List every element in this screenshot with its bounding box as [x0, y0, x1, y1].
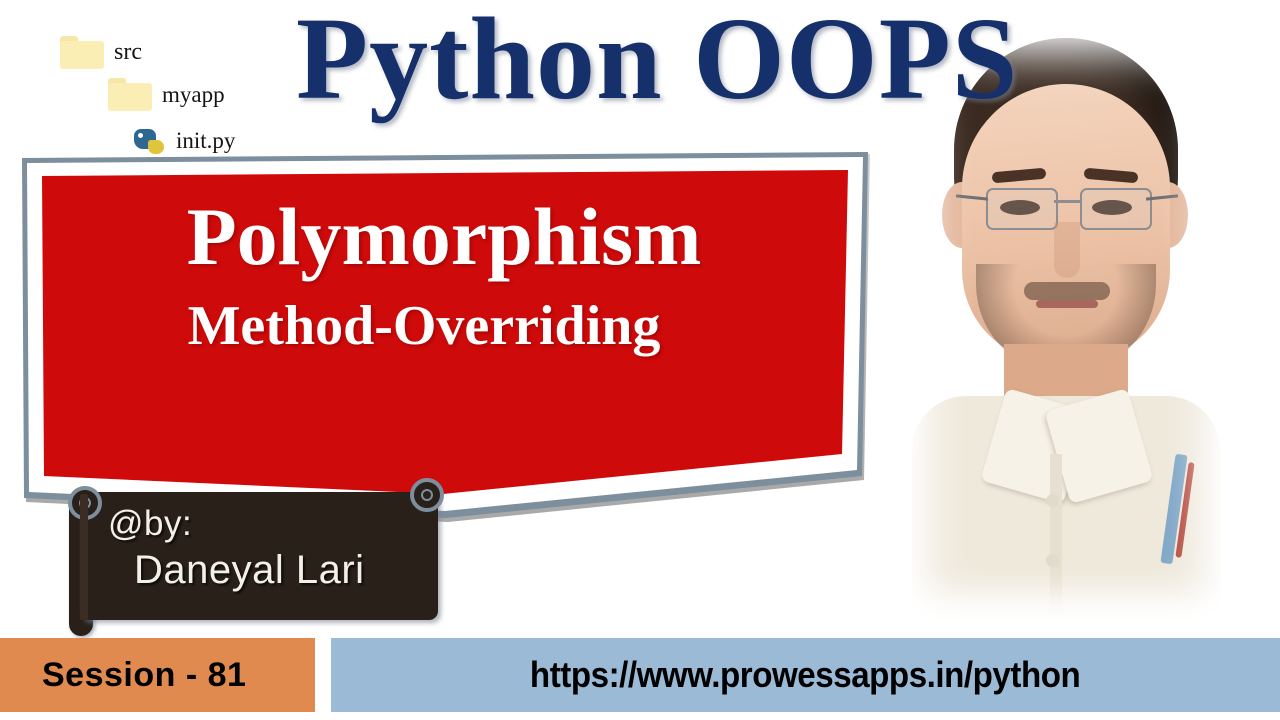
scroll-spine	[80, 494, 88, 620]
website-url-bar[interactable]: https://www.prowessapps.in/python	[331, 638, 1280, 712]
scroll-curl-right-icon	[410, 478, 444, 512]
topic-subtitle: Method-Overriding	[18, 298, 830, 354]
author-by-label: @by:	[108, 504, 192, 544]
session-label: Session - 81	[42, 656, 246, 695]
folder-icon	[108, 78, 152, 111]
page-title: Python OOPS	[296, 0, 1018, 124]
author-plate: @by: Daneyal Lari	[62, 482, 440, 622]
file-tree-label: myapp	[162, 82, 225, 108]
file-tree-row-myapp: myapp	[108, 78, 225, 111]
file-tree-row-src: src	[60, 36, 142, 69]
slide-canvas: src myapp init.py	[0, 0, 1280, 720]
folder-icon	[60, 36, 104, 69]
website-url-text: https://www.prowessapps.in/python	[530, 654, 1080, 696]
topic-title: Polymorphism	[18, 196, 870, 278]
author-name: Daneyal Lari	[134, 548, 365, 593]
file-tree-label: src	[114, 39, 142, 66]
session-badge: Session - 81	[0, 638, 315, 712]
